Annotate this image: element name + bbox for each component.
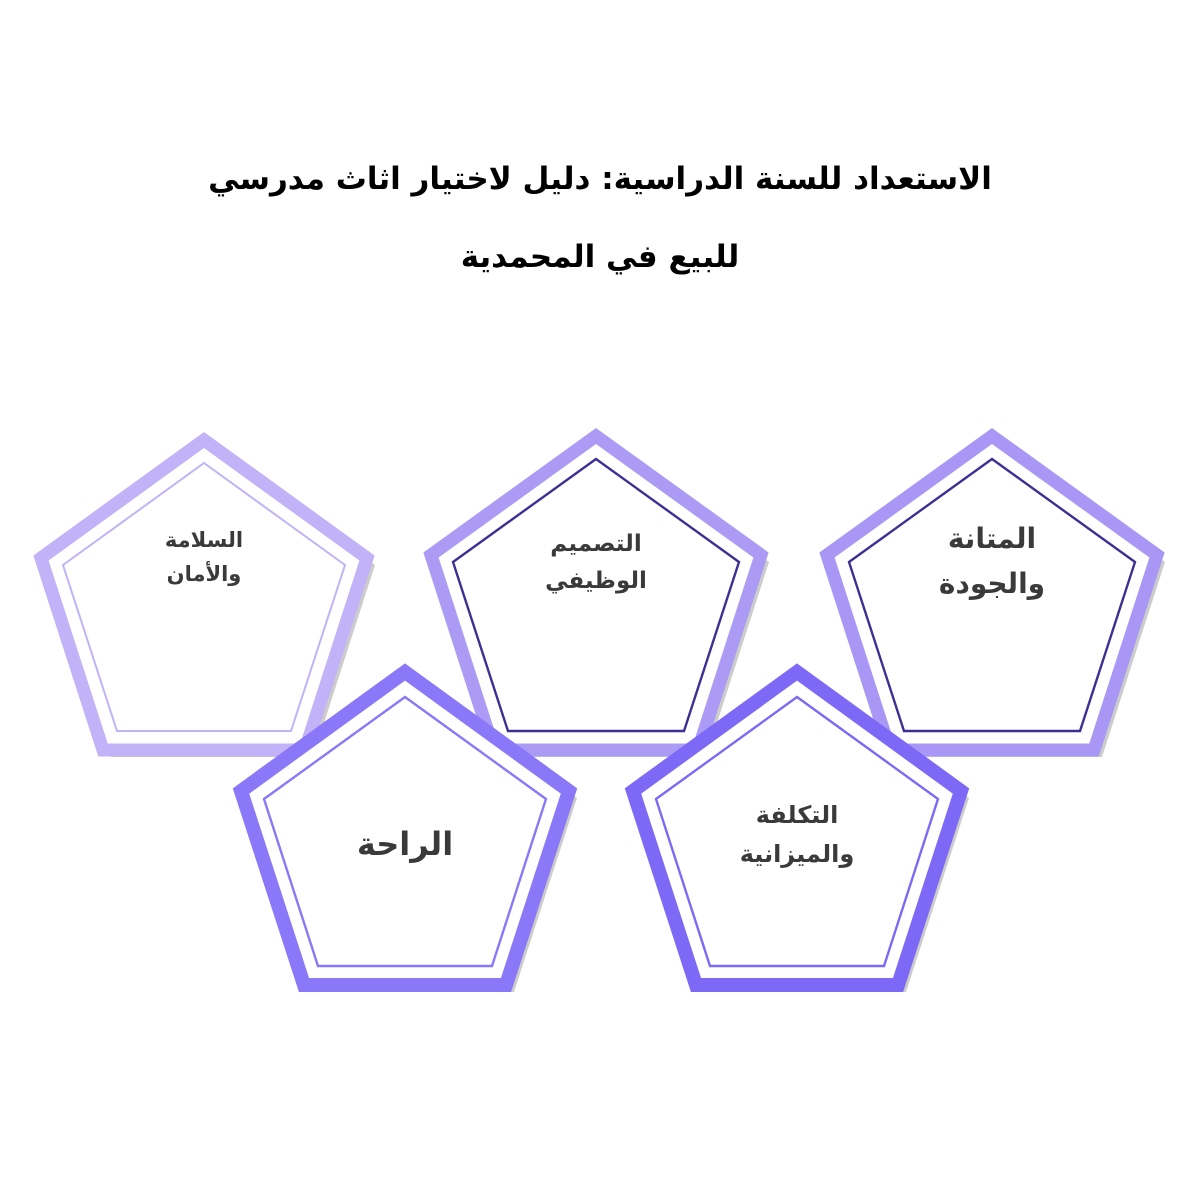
- pentagon-diagram: [0, 0, 1200, 1200]
- node-durability-quality[interactable]: [827, 436, 1157, 750]
- infographic-canvas: الاستعداد للسنة الدراسية: دليل لاختيار ا…: [0, 0, 1200, 1200]
- node-safety-outer: [41, 440, 367, 750]
- node-functional-design-outer: [431, 436, 761, 750]
- node-safety[interactable]: [41, 440, 367, 750]
- node-functional-design[interactable]: [431, 436, 761, 750]
- node-durability-quality-outer: [827, 436, 1157, 750]
